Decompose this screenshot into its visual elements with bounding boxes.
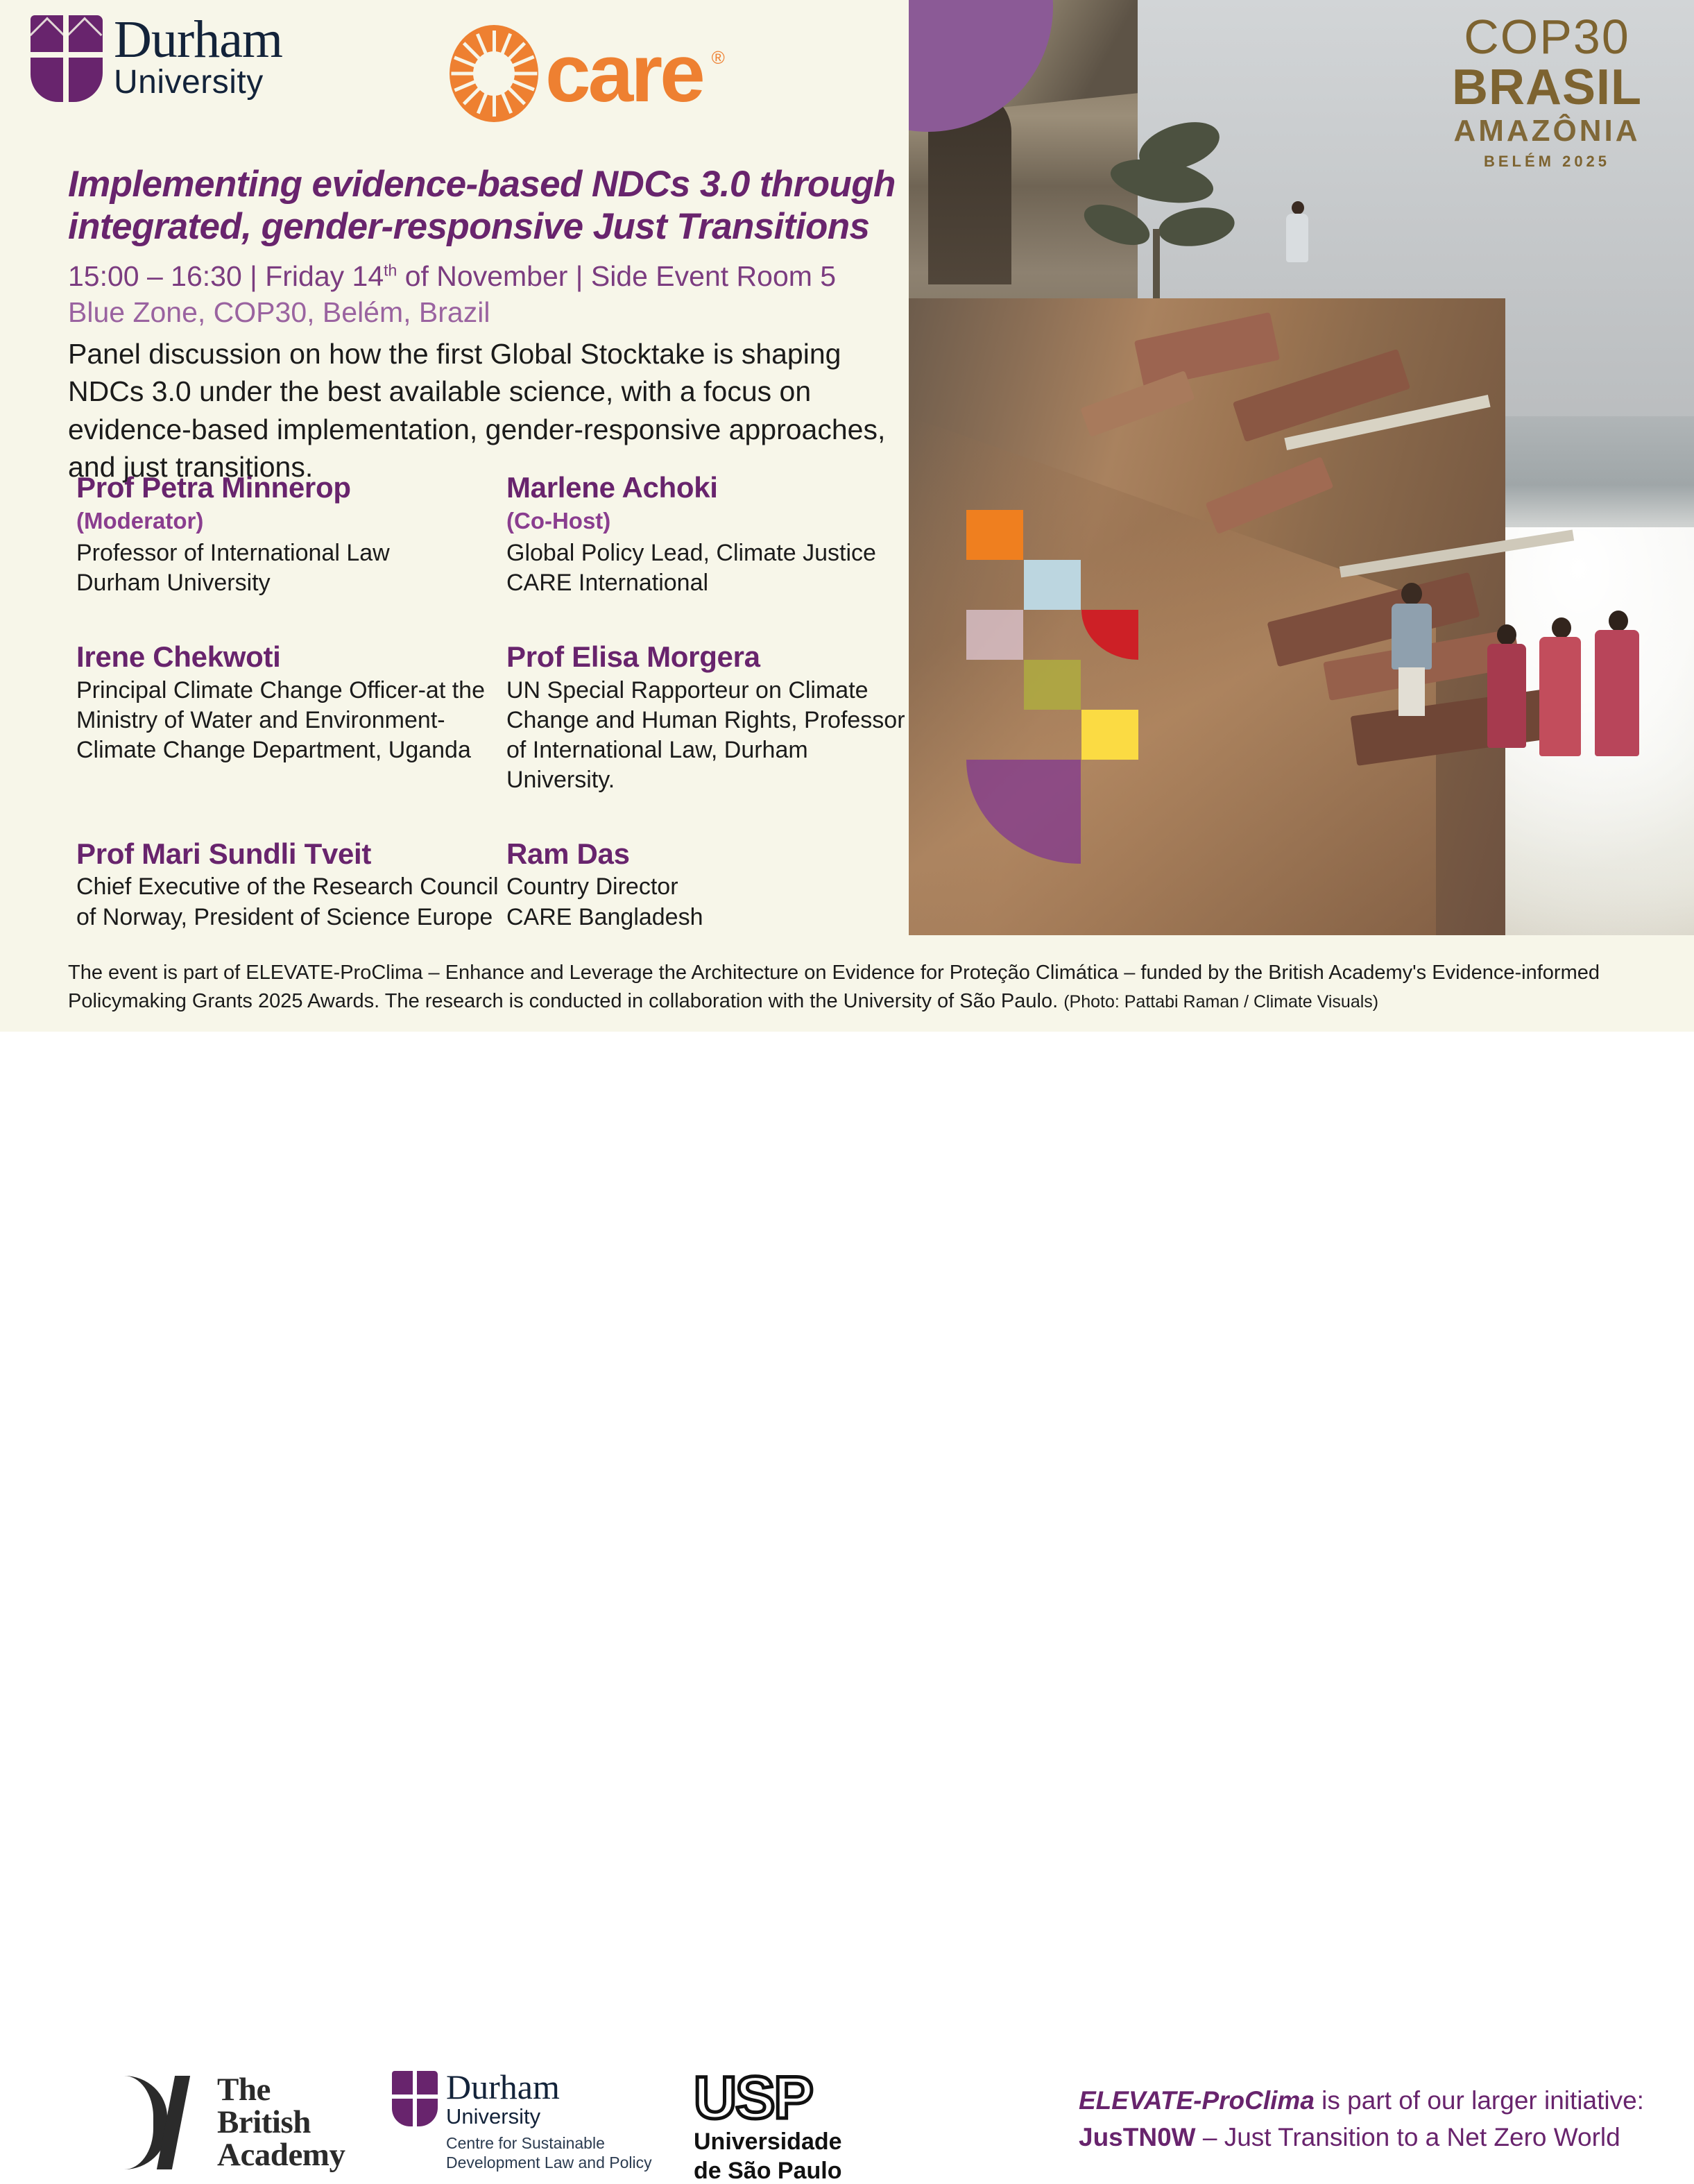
cop30-line4: BELÉM 2025 xyxy=(1443,153,1651,171)
cop30-line2: BRASIL xyxy=(1443,62,1651,113)
british-academy-monogram-icon xyxy=(121,2076,203,2169)
cop30-line1: COP30 xyxy=(1443,12,1651,61)
speaker-card: Irene Chekwoti Principal Climate Change … xyxy=(76,641,506,795)
color-block-yellow xyxy=(1081,710,1138,760)
initiative-tagline: – Just Transition to a Net Zero World xyxy=(1196,2123,1620,2151)
color-block-red xyxy=(1081,610,1138,660)
color-block-purple xyxy=(966,760,1081,864)
care-logo: care® xyxy=(450,25,703,122)
durham-university-logo: Durham University xyxy=(31,15,282,102)
care-sunburst-icon xyxy=(450,25,538,122)
partner-logo-bar: The British Academy Durham University Ce… xyxy=(0,1032,1694,1192)
color-block-pink xyxy=(966,610,1023,660)
speakers-grid: Prof Petra Minnerop (Moderator) Professo… xyxy=(76,472,909,932)
photo-credit: (Photo: Pattabi Raman / Climate Visuals) xyxy=(1063,992,1378,1012)
csdlp-line2: University xyxy=(446,2104,652,2129)
speaker-card: Ram Das Country Director CARE Bangladesh xyxy=(506,838,909,932)
csdlp-line1: Durham xyxy=(446,2071,652,2104)
speaker-name: Marlene Achoki xyxy=(506,472,909,504)
ba-line3: Academy xyxy=(217,2139,345,2172)
speaker-card: Prof Mari Sundli Tveit Chief Executive o… xyxy=(76,838,506,932)
british-academy-logo: The British Academy xyxy=(121,2074,345,2172)
initiative-umbrella-name: JusTN0W xyxy=(1079,2123,1196,2151)
event-title: Implementing evidence-based NDCs 3.0 thr… xyxy=(68,163,921,248)
durham-wordmark-line2: University xyxy=(114,65,282,101)
initiative-middle: is part of our larger initiative: xyxy=(1315,2086,1644,2115)
speaker-card: Prof Elisa Morgera UN Special Rapporteur… xyxy=(506,641,909,795)
speaker-affiliation: Global Policy Lead, Climate Justice CARE… xyxy=(506,538,909,598)
speaker-name: Prof Petra Minnerop xyxy=(76,472,506,504)
color-block-olive xyxy=(1024,660,1081,710)
care-wordmark: care® xyxy=(545,41,703,106)
speaker-affiliation: UN Special Rapporteur on Climate Change … xyxy=(506,676,909,796)
speaker-affiliation: Principal Climate Change Officer-at the … xyxy=(76,676,506,766)
ba-line1: The xyxy=(217,2074,345,2106)
event-title-block: Implementing evidence-based NDCs 3.0 thr… xyxy=(68,163,921,486)
durham-shield-icon xyxy=(31,15,103,102)
color-block-blue xyxy=(1024,560,1081,610)
funding-footnote: The event is part of ELEVATE-ProClima – … xyxy=(68,959,1629,1016)
ba-line2: British xyxy=(217,2106,345,2139)
event-datetime: 15:00 – 16:30 | Friday 14th of November … xyxy=(68,258,921,294)
coastal-erosion-photo: COP30 BRASIL AMAZÔNIA BELÉM 2025 xyxy=(909,0,1694,935)
top-logo-row: Durham University care® xyxy=(0,0,909,132)
speaker-card: Marlene Achoki (Co-Host) Global Policy L… xyxy=(506,472,909,598)
speaker-affiliation: Chief Executive of the Research Council … xyxy=(76,872,506,932)
initiative-program-name: ELEVATE-ProClima xyxy=(1079,2086,1315,2115)
usp-monogram-icon: USP xyxy=(694,2071,842,2126)
cop30-logo: COP30 BRASIL AMAZÔNIA BELÉM 2025 xyxy=(1443,12,1651,171)
speaker-card: Prof Petra Minnerop (Moderator) Professo… xyxy=(76,472,506,598)
speaker-name: Ram Das xyxy=(506,838,909,870)
event-location: Blue Zone, COP30, Belém, Brazil xyxy=(68,294,921,330)
usp-line2: de São Paulo xyxy=(694,2158,842,2184)
poster-root: Durham University care® Impl xyxy=(0,0,1694,1192)
speaker-affiliation: Professor of International Law Durham Un… xyxy=(76,538,506,598)
usp-logo: USP Universidade de São Paulo xyxy=(694,2071,842,2184)
speaker-role: (Moderator) xyxy=(76,506,506,536)
cop30-line3: AMAZÔNIA xyxy=(1443,114,1651,148)
speaker-role: (Co-Host) xyxy=(506,506,909,536)
initiative-statement: ELEVATE-ProClima is part of our larger i… xyxy=(1079,2083,1648,2156)
speaker-name: Prof Elisa Morgera xyxy=(506,641,909,673)
durham-wordmark-line1: Durham xyxy=(114,16,282,65)
usp-line1: Universidade xyxy=(694,2128,842,2155)
speaker-affiliation: Country Director CARE Bangladesh xyxy=(506,872,909,932)
durham-csdlp-logo: Durham University Centre for Sustainable… xyxy=(392,2071,652,2172)
speaker-name: Prof Mari Sundli Tveit xyxy=(76,838,506,870)
csdlp-subtitle: Centre for Sustainable Development Law a… xyxy=(446,2133,652,2172)
speaker-name: Irene Chekwoti xyxy=(76,641,506,673)
durham-shield-icon xyxy=(392,2071,438,2126)
event-description: Panel discussion on how the first Global… xyxy=(68,335,921,486)
color-block-orange xyxy=(966,510,1023,560)
